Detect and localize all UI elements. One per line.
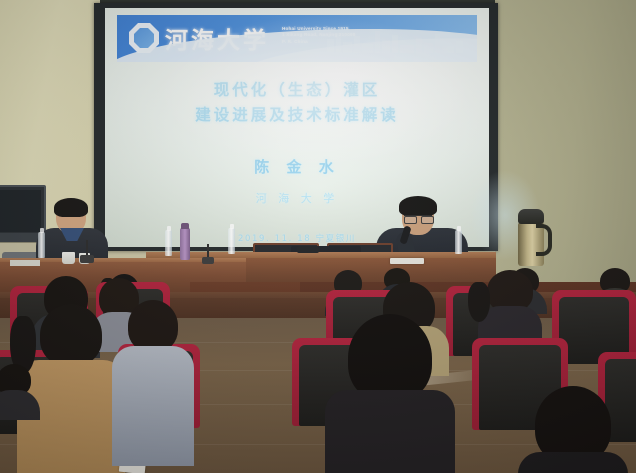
gold-thermos xyxy=(518,222,544,266)
notebook xyxy=(390,258,424,264)
slide-title-line1: 现代化（生态）灌区 xyxy=(105,78,489,103)
water-bottle xyxy=(228,228,235,254)
hair xyxy=(468,282,490,322)
monitor-base xyxy=(0,233,40,242)
water-bottle xyxy=(455,230,462,254)
eyeglasses-icon xyxy=(404,215,432,222)
slide-title-line2: 建设进展及技术标准解读 xyxy=(105,103,489,128)
water-bottle xyxy=(165,230,172,256)
name-card xyxy=(10,260,40,266)
tabletop-device xyxy=(297,246,319,253)
audience-member xyxy=(530,386,616,473)
desk-microphone-base xyxy=(202,257,214,264)
lecture-hall-screenshot: 河海大学 Hohai University Since 1915 1 Xikan… xyxy=(0,0,636,473)
desk-microphone-base xyxy=(80,255,94,263)
slide-speaker-name: 陈 金 水 xyxy=(105,156,489,177)
purple-thermos xyxy=(180,228,190,260)
desk-microphone-stand xyxy=(207,244,209,258)
right-wall xyxy=(495,0,636,288)
white-cup xyxy=(62,252,75,264)
slide-banner: 河海大学 Hohai University Since 1915 1 Xikan… xyxy=(117,15,477,62)
slide-title: 现代化（生态）灌区 建设进展及技术标准解读 xyxy=(105,78,489,128)
water-bottle xyxy=(38,232,45,258)
audience-member xyxy=(336,314,444,473)
audience-member xyxy=(482,270,538,336)
audience-member xyxy=(26,304,116,473)
desk-microphone-stand xyxy=(86,240,88,256)
audience-member xyxy=(0,364,34,414)
audience-member xyxy=(118,300,188,440)
audience xyxy=(0,268,636,473)
